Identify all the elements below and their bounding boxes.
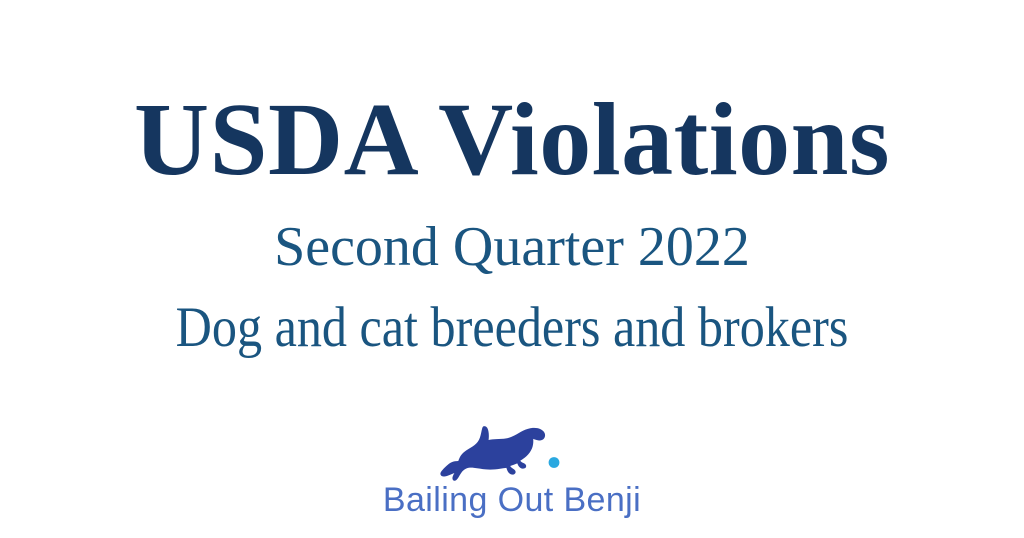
logo-wordmark: Bailing Out Benji — [383, 483, 641, 517]
page-title: USDA Violations — [0, 88, 1024, 192]
ball-icon — [549, 457, 560, 468]
usda-violations-poster: USDA Violations Second Quarter 2022 Dog … — [0, 0, 1024, 538]
running-dog-icon — [437, 424, 587, 482]
subtitle-category: Dog and cat breeders and brokers — [61, 299, 962, 356]
organization-logo: Bailing Out Benji — [0, 424, 1024, 517]
subtitle-quarter: Second Quarter 2022 — [0, 219, 1024, 275]
